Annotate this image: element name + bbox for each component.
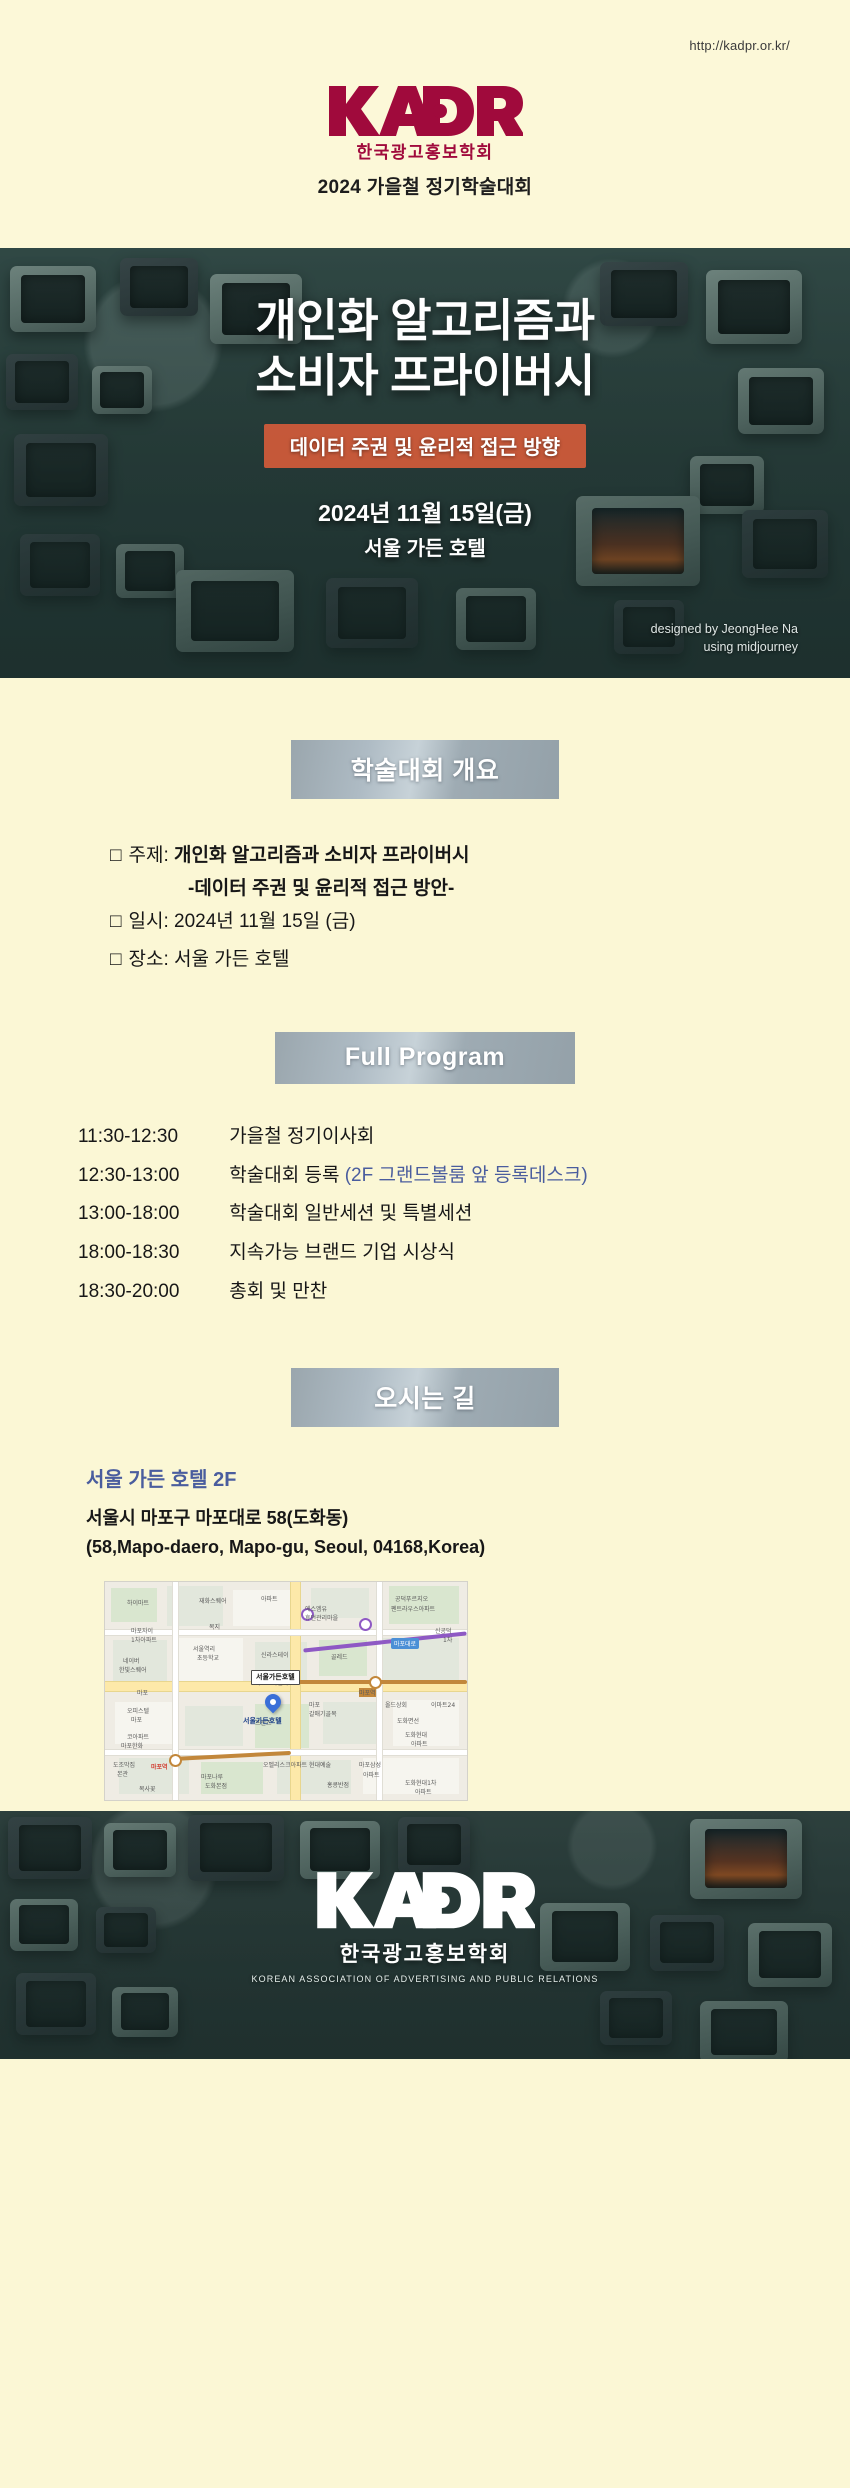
credit-line-1: designed by JeongHee Na [651, 620, 798, 638]
program-title: 가을철 정기이사회 [229, 1126, 374, 1147]
map-label: 코아파트 [127, 1732, 149, 1741]
hero-content: 개인화 알고리즘과 소비자 프라이버시 데이터 주권 및 윤리적 접근 방향 2… [0, 294, 850, 561]
program-title: 지속가능 브랜드 기업 시상식 [229, 1242, 455, 1263]
footer-banner: 한국광고홍보학회 KOREAN ASSOCIATION OF ADVERTISI… [0, 1811, 850, 2059]
map-label: 복사꽃 [139, 1784, 156, 1793]
map-label: 아파트 [415, 1787, 432, 1796]
overview-label-topic: 주제: [128, 845, 168, 866]
overview-label-place: 장소: [128, 949, 168, 970]
program-list: 11:30-12:30 가을철 정기이사회 12:30-13:00 학술대회 등… [0, 1084, 850, 1313]
footer-association-name-en: KOREAN ASSOCIATION OF ADVERTISING AND PU… [0, 1974, 850, 1984]
overview-heading: 학술대회 개요 [291, 740, 559, 799]
map-label: 마포삼성 [359, 1760, 381, 1769]
header-band: http://kadpr.or.kr/ 한국광고홍보학회 2024 가을철 정기… [0, 0, 850, 248]
map-label: 현대예술 [309, 1760, 331, 1769]
checkbox-icon: □ [110, 845, 121, 866]
directions-venue: 서울 가든 호텔 2F [86, 1463, 850, 1492]
map-poi-venue: 서울가든호텔 [251, 1670, 300, 1685]
association-name-kr: 한국광고홍보학회 [0, 138, 850, 163]
kadpr-logo-icon [327, 82, 523, 136]
map-label: 마포 [137, 1688, 148, 1697]
program-time: 12:30-13:00 [78, 1157, 224, 1196]
map-label: 아파트 [363, 1770, 380, 1779]
map-subway-label: 마포역 [359, 1688, 376, 1697]
program-heading: Full Program [275, 1032, 575, 1084]
map-label: 신공덕 [435, 1626, 452, 1635]
map-label: 홍콩반점 [327, 1780, 349, 1789]
program-row: 11:30-12:30 가을철 정기이사회 [78, 1118, 850, 1157]
map-label: 펜트라우스아파트 [391, 1604, 435, 1613]
event-name: 2024 가을철 정기학술대회 [0, 172, 850, 199]
program-row: 12:30-13:00 학술대회 등록 (2F 그랜드볼룸 앞 등록데스크) [78, 1157, 850, 1196]
overview-subtitle-topic: -데이터 주권 및 윤리적 접근 방안- [110, 874, 850, 903]
map-label: 오피스텔 [127, 1706, 149, 1715]
map-block [113, 1640, 167, 1684]
map-road [105, 1630, 467, 1635]
overview-value-date: 2024년 11월 15일 (금) [174, 911, 356, 932]
map-label: 마포 [131, 1715, 142, 1724]
map-label: 도화현대1차 [405, 1778, 436, 1787]
map-pin-label: 서울가든호텔 [243, 1716, 282, 1726]
program-row: 18:00-18:30 지속가능 브랜드 기업 시상식 [78, 1234, 850, 1273]
program-time: 18:30-20:00 [78, 1273, 224, 1312]
map-label: 하이마트 [127, 1598, 149, 1607]
hero-venue: 서울 가든 호텔 [60, 532, 790, 561]
footer-brand: 한국광고홍보학회 KOREAN ASSOCIATION OF ADVERTISI… [0, 1867, 850, 1984]
program-title: 학술대회 일반세션 및 특별세션 [229, 1203, 472, 1224]
directions-block: 서울 가든 호텔 2F 서울시 마포구 마포대로 58(도화동) (58,Map… [0, 1427, 850, 1562]
map-label: 에스엠유 [305, 1604, 327, 1613]
section-directions: 오시는 길 서울 가든 호텔 2F 서울시 마포구 마포대로 58(도화동) (… [0, 1312, 850, 1800]
overview-item-date: □일시: 2024년 11월 15일 (금) [110, 903, 850, 940]
credit-line-2: using midjourney [651, 638, 798, 656]
map-label: 네이버 [123, 1656, 140, 1665]
directions-address-en: (58,Mapo-daero, Mapo-gu, Seoul, 04168,Ko… [86, 1533, 850, 1562]
map-label: 아파트 [261, 1594, 278, 1603]
hero-title-line2: 소비자 프라이버시 [60, 349, 790, 404]
map-label: 갈매기골목 [309, 1709, 337, 1718]
program-time: 18:00-18:30 [78, 1234, 224, 1273]
overview-item-topic: □주제: 개인화 알고리즘과 소비자 프라이버시 [110, 837, 850, 874]
map-label: 서울역리 [193, 1644, 215, 1653]
map-label: 재화스퀘어 [199, 1596, 227, 1605]
map-label: 신라스테이 [261, 1650, 289, 1659]
designer-credit: designed by JeongHee Na using midjourney [651, 620, 798, 656]
map-label: 공덕푸르지오 [395, 1594, 428, 1603]
program-row: 18:30-20:00 총회 및 만찬 [78, 1273, 850, 1312]
map-block [185, 1706, 243, 1746]
kadpr-logo-icon [315, 1867, 535, 1929]
map-station-dot [359, 1618, 372, 1631]
footer-association-name-kr: 한국광고홍보학회 [0, 1938, 850, 1968]
overview-value-topic: 개인화 알고리즘과 소비자 프라이버시 [174, 845, 470, 866]
checkbox-icon: □ [110, 949, 121, 970]
program-row: 13:00-18:00 학술대회 일반세션 및 특별세션 [78, 1195, 850, 1234]
brand-block: 한국광고홍보학회 2024 가을철 정기학술대회 [0, 82, 850, 199]
hero-date: 2024년 11월 15일(금) [60, 494, 790, 528]
overview-label-date: 일시: [128, 911, 168, 932]
map-label: 초등학교 [197, 1653, 219, 1662]
map-label: 휴먼관리마을 [305, 1613, 338, 1622]
map-label: 1차 [443, 1635, 452, 1644]
section-program: Full Program 11:30-12:30 가을철 정기이사회 12:30… [0, 978, 850, 1313]
poster-body: 학술대회 개요 □주제: 개인화 알고리즘과 소비자 프라이버시 -데이터 주권… [0, 678, 850, 1811]
overview-item-place: □장소: 서울 가든 호텔 [110, 941, 850, 978]
overview-value-place: 서울 가든 호텔 [174, 949, 289, 970]
map-subway-label: 마포대로 [391, 1638, 419, 1649]
map-label: 본관 [117, 1769, 128, 1778]
checkbox-icon: □ [110, 911, 121, 932]
hero-banner: 개인화 알고리즘과 소비자 프라이버시 데이터 주권 및 윤리적 접근 방향 2… [0, 248, 850, 678]
website-url[interactable]: http://kadpr.or.kr/ [689, 38, 790, 53]
program-time: 11:30-12:30 [78, 1118, 224, 1157]
map-label: 도화현대 [405, 1730, 427, 1739]
map-label: 도화면선 [397, 1716, 419, 1725]
map-label: 마포나루 [201, 1772, 223, 1781]
map-label: 마포한화 [121, 1741, 143, 1750]
map-label: 올드상회 [385, 1700, 407, 1709]
map-station-dot [169, 1754, 182, 1767]
map-label: 1차아파트 [131, 1635, 157, 1644]
map-road [173, 1582, 178, 1800]
map-label: 마포자이 [131, 1626, 153, 1635]
overview-list: □주제: 개인화 알고리즘과 소비자 프라이버시 -데이터 주권 및 윤리적 접… [0, 799, 850, 978]
program-title: 총회 및 만찬 [229, 1281, 327, 1302]
hero-subtitle-badge: 데이터 주권 및 윤리적 접근 방향 [264, 424, 587, 468]
hero-title-line1: 개인화 알고리즘과 [60, 294, 790, 349]
map-label: 아파트 [411, 1739, 428, 1748]
map-station-label: 마포역 [151, 1762, 168, 1771]
map-label: 도조막집 [113, 1760, 135, 1769]
directions-address-kr: 서울시 마포구 마포대로 58(도화동) [86, 1504, 850, 1533]
map-label: 복지 [209, 1622, 220, 1631]
program-note: (2F 그랜드볼룸 앞 등록데스크) [345, 1165, 588, 1186]
poster-root: http://kadpr.or.kr/ 한국광고홍보학회 2024 가을철 정기… [0, 0, 850, 2488]
location-map[interactable]: 마포대로 마포역 마포역 하이마트 재화스퀘어 아파트 공덕푸르지오 펜트라우스… [104, 1581, 468, 1801]
program-title: 학술대회 등록 [229, 1165, 339, 1186]
program-time: 13:00-18:00 [78, 1195, 224, 1234]
map-label: 도화본점 [205, 1781, 227, 1790]
map-label: 오벨리스크아파트 [263, 1760, 307, 1769]
map-label: 마포 [309, 1700, 320, 1709]
directions-heading: 오시는 길 [291, 1368, 559, 1427]
map-label: 이마트24 [431, 1700, 455, 1709]
map-label: 한빛스퀘어 [119, 1665, 147, 1674]
section-overview: 학술대회 개요 □주제: 개인화 알고리즘과 소비자 프라이버시 -데이터 주권… [0, 678, 850, 978]
map-label: 골레드 [331, 1652, 348, 1661]
